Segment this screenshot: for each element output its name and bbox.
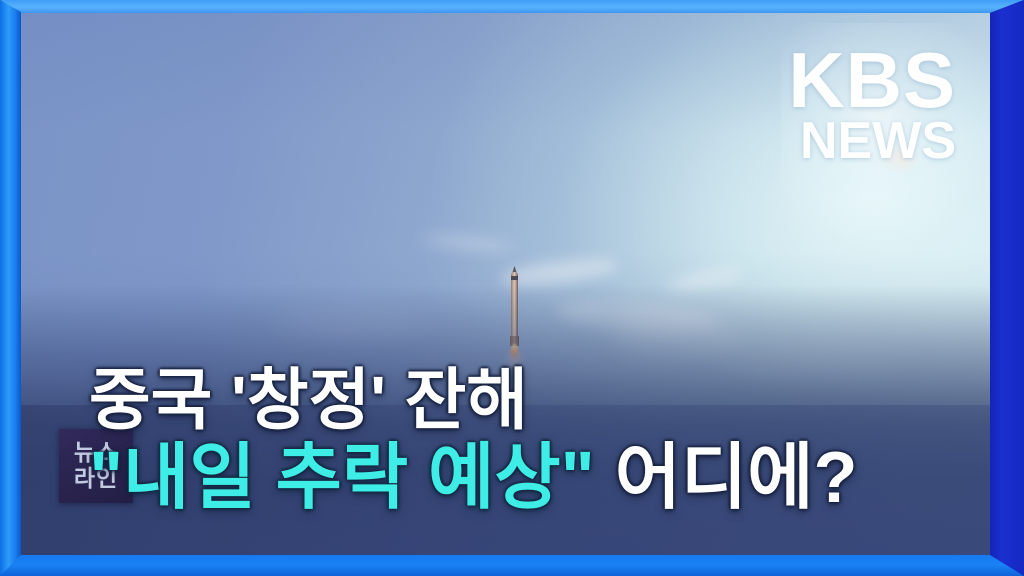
- logo-text-news: NEWS: [788, 115, 956, 167]
- broadcast-frame: KBS NEWS 뉴스 라인 중국 '창정' 잔해 "내일 추락 예상" 어디에…: [0, 0, 1024, 576]
- headline-line-1: 중국 '창정' 잔해: [21, 367, 990, 435]
- video-frame: KBS NEWS 뉴스 라인 중국 '창정' 잔해 "내일 추락 예상" 어디에…: [21, 13, 990, 555]
- headline-quote-highlight: "내일 추락 예상": [89, 438, 595, 518]
- frame-edge-right: [990, 0, 1024, 576]
- frame-edge-left: [0, 0, 21, 576]
- rocket-band: [511, 276, 518, 280]
- kbs-news-logo: KBS NEWS: [788, 41, 956, 167]
- frame-edge-top: [0, 0, 1024, 13]
- frame-edge-bottom: [0, 555, 1024, 576]
- logo-text-kbs: KBS: [788, 41, 956, 119]
- headline-caption: 중국 '창정' 잔해 "내일 추락 예상" 어디에?: [21, 367, 990, 515]
- headline-line-2: "내일 추락 예상" 어디에?: [21, 442, 990, 515]
- headline-question: 어디에?: [595, 438, 858, 518]
